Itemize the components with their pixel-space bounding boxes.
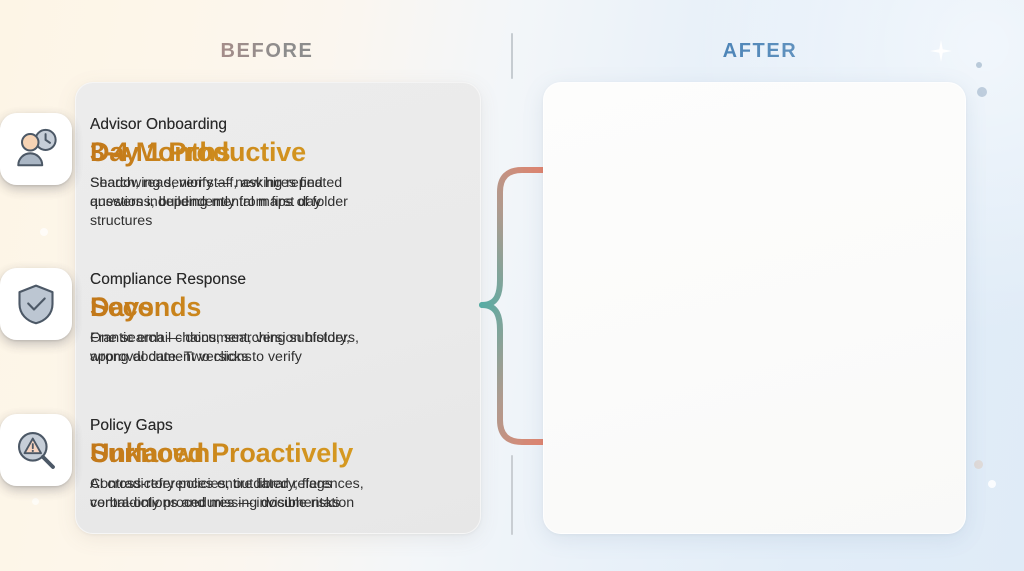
row-description: AI cross-references entire library, flag… (90, 475, 390, 513)
after-row-compliance: Compliance Response Seconds One search —… (0, 268, 390, 367)
row-value: Surfaced Proactively (90, 437, 390, 471)
decor-dot (977, 87, 987, 97)
row-description: Search, read, verify — new hires find an… (90, 174, 378, 212)
after-row-policy: Policy Gaps Surfaced Proactively AI cros… (0, 414, 390, 513)
infographic-canvas: BEFORE AFTER Advisor Onboarding 3-4 Mont… (0, 0, 1024, 571)
row-label: Compliance Response (90, 270, 390, 289)
row-value: Seconds (90, 291, 390, 325)
after-row-text: Advisor Onboarding Day 1 Productive Sear… (72, 113, 378, 212)
column-title-after: AFTER (610, 40, 910, 63)
decor-dot (974, 460, 983, 469)
shield-check-icon (0, 268, 72, 340)
after-panel (543, 82, 966, 534)
after-row-text: Policy Gaps Surfaced Proactively AI cros… (72, 414, 390, 513)
after-row-onboarding: Advisor Onboarding Day 1 Productive Sear… (0, 113, 378, 212)
person-clock-icon (0, 113, 72, 185)
decor-dot (976, 62, 982, 68)
decor-dot (988, 480, 996, 488)
column-divider-bottom (511, 455, 513, 535)
magnifier-warning-icon (0, 414, 72, 486)
column-divider-top (511, 33, 513, 79)
column-title-before: BEFORE (117, 40, 417, 63)
sparkle-icon (930, 40, 952, 62)
after-row-text: Compliance Response Seconds One search —… (72, 268, 390, 367)
row-description: One search — document, version history, … (90, 329, 390, 367)
row-label: Advisor Onboarding (90, 115, 378, 134)
row-label: Policy Gaps (90, 416, 390, 435)
row-value: Day 1 Productive (90, 136, 378, 170)
